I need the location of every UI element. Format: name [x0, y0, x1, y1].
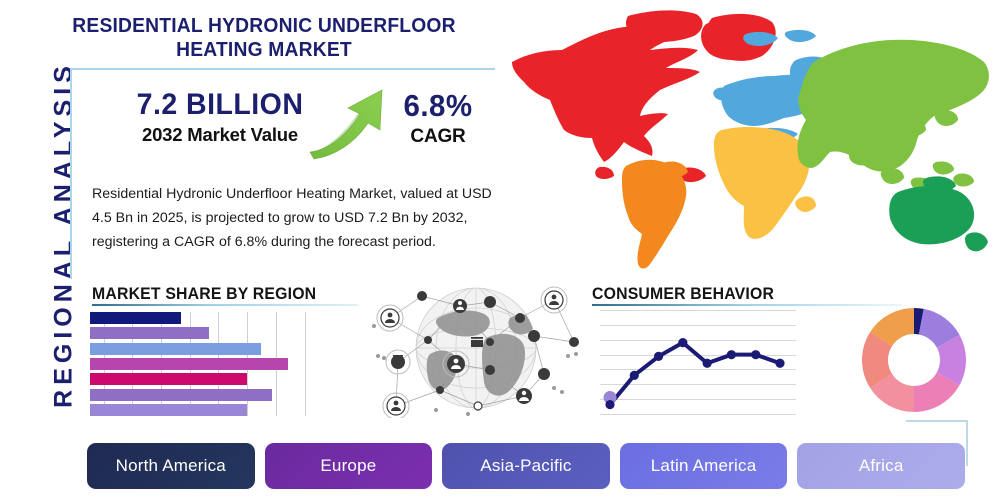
region-tab-label: Asia-Pacific [480, 456, 571, 476]
bar-fill [90, 389, 272, 401]
tab-rail-right [966, 420, 968, 466]
world-map-icon [500, 2, 1000, 274]
bar-fill [90, 312, 181, 324]
line-chart-marker [654, 352, 663, 361]
region-tab-asia-pacific[interactable]: Asia-Pacific [442, 443, 610, 489]
line-chart-marker [703, 359, 712, 368]
region-tab-africa[interactable]: Africa [797, 443, 965, 489]
market-share-heading: MARKET SHARE BY REGION [92, 284, 316, 304]
bar-fill [90, 404, 247, 416]
kpi-market-value-label: 2032 Market Value [120, 124, 320, 146]
regional-split-donut-chart [862, 308, 966, 412]
region-tab-north-america[interactable]: North America [87, 443, 255, 489]
region-tab-label: Africa [859, 456, 904, 476]
bar-chart-bar [90, 389, 272, 401]
infographic-root: REGIONAL ANALYSIS RESIDENTIAL HYDRONIC U… [0, 0, 1000, 500]
global-network-people-icon [368, 278, 584, 418]
kpi-market-value: 7.2 BILLION 2032 Market Value [120, 88, 320, 146]
bar-fill [90, 373, 247, 385]
bar-chart-bar [90, 312, 181, 324]
line-chart-marker [751, 350, 760, 359]
region-tab-label: Latin America [651, 456, 757, 476]
bar-chart-bar [90, 343, 261, 355]
kpi-cagr: 6.8% CAGR [378, 88, 498, 148]
region-tab-label: North America [116, 456, 226, 476]
kpi-market-value-number: 7.2 BILLION [125, 88, 315, 122]
market-share-bar-chart [90, 312, 318, 416]
bar-fill [90, 327, 209, 339]
kpi-row: 7.2 BILLION 2032 Market Value 6.8% CAGR [78, 88, 498, 168]
line-chart-series [600, 310, 796, 416]
summary-paragraph: Residential Hydronic Underfloor Heating … [92, 182, 504, 254]
kpi-cagr-number: 6.8% [381, 88, 495, 124]
region-tabs[interactable]: North AmericaEuropeAsia-PacificLatin Ame… [82, 441, 970, 491]
line-chart-marker [605, 400, 614, 409]
bar-fill [90, 343, 261, 355]
line-chart-marker [775, 359, 784, 368]
region-tab-label: Europe [320, 456, 376, 476]
region-tab-europe[interactable]: Europe [265, 443, 433, 489]
bar-chart-bar [90, 327, 209, 339]
region-tab-latin-america[interactable]: Latin America [620, 443, 788, 489]
consumer-behavior-line-chart [600, 310, 796, 416]
line-chart-marker [678, 338, 687, 347]
line-chart-marker [727, 350, 736, 359]
page-title: RESIDENTIAL HYDRONIC UNDERFLOOR HEATING … [48, 14, 480, 62]
bar-chart-bar [90, 373, 247, 385]
market-share-rule [92, 304, 358, 306]
bar-fill [90, 358, 288, 370]
bar-chart-bar [90, 358, 288, 370]
kpi-cagr-label: CAGR [378, 126, 498, 148]
bar-chart-bar [90, 404, 247, 416]
consumer-behavior-heading: CONSUMER BEHAVIOR [592, 284, 774, 304]
tab-rail-top [906, 420, 968, 422]
bar-chart-gridline [305, 312, 306, 416]
line-chart-marker [630, 371, 639, 380]
consumer-behavior-rule [592, 304, 902, 306]
